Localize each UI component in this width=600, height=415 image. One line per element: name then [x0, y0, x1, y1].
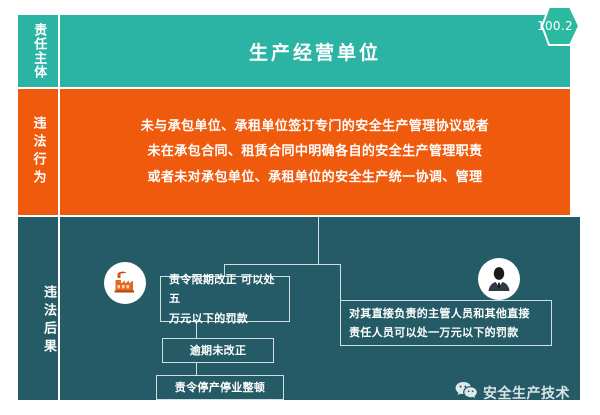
connector-stem — [318, 217, 319, 265]
consequence-label: 违法后果 — [18, 217, 60, 400]
businessman-icon — [478, 258, 520, 300]
watermark-text: 安全生产技术 — [483, 383, 570, 403]
connector-horizontal — [224, 264, 341, 265]
illegal-act-band: 违法行为 未与承包单位、承租单位签订专门的安全生产管理协议或者 未在承包合同、租… — [18, 89, 570, 215]
responsible-subject-band: 责任主体 生产经营单位 — [18, 15, 570, 87]
wechat-icon — [455, 381, 477, 403]
page-title: 生产经营单位 — [60, 15, 570, 87]
illegal-act-label: 违法行为 — [18, 89, 60, 215]
illegal-act-line-2: 未在承包合同、租赁合同中明确各自的安全生产管理职责 — [147, 139, 482, 164]
illegal-act-line-1: 未与承包单位、承租单位签订专门的安全生产管理协议或者 — [141, 114, 489, 139]
box-person-penalty-line-2: 责任人员可以处一万元以下的罚款 — [349, 323, 519, 342]
hex-badge-value: 100.2 — [528, 2, 582, 50]
box-order-correction-line-2: 万元以下的罚款 — [169, 309, 248, 328]
factory-icon — [104, 262, 146, 304]
box-order-correction: 责令限期改正 可以处五 万元以下的罚款 — [160, 276, 290, 322]
box-order-correction-line-1: 责令限期改正 可以处五 — [169, 270, 281, 309]
box-person-penalty-line-1: 对其直接负责的主管人员和其他直接 — [349, 304, 530, 323]
connector-right-drop — [340, 264, 341, 300]
infographic-root: 责任主体 生产经营单位 100.2 违法行为 未与承包单位、承租单位签订专门的安… — [0, 0, 600, 415]
illegal-act-line-3: 或者未对承包单位、承租单位的安全生产统一协调、管理 — [147, 165, 482, 190]
box-person-penalty: 对其直接负责的主管人员和其他直接 责任人员可以处一万元以下的罚款 — [340, 300, 552, 346]
box-suspend-production: 责令停产停业整顿 — [156, 375, 284, 400]
box-overdue: 逾期未改正 — [162, 338, 274, 363]
responsible-subject-label: 责任主体 — [18, 15, 60, 87]
watermark: 安全生产技术 — [455, 381, 570, 403]
hex-badge: 100.2 — [528, 2, 582, 50]
illegal-act-text: 未与承包单位、承租单位签订专门的安全生产管理协议或者 未在承包合同、租赁合同中明… — [60, 89, 570, 215]
connector-box2-box3 — [196, 363, 197, 375]
